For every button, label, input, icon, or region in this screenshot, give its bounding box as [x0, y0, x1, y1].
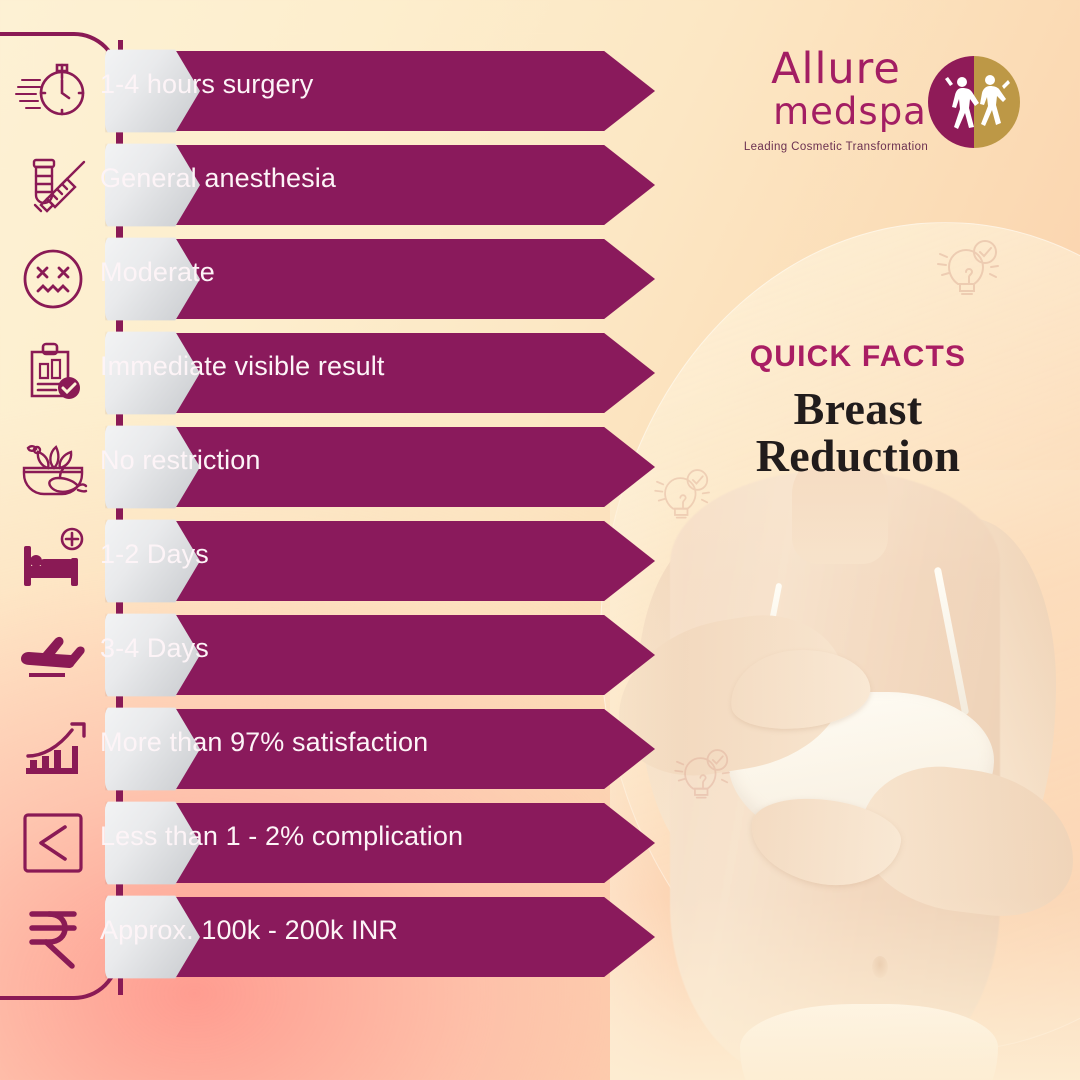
less-than-box-icon — [10, 800, 96, 886]
photo-bra-strap-right — [934, 567, 969, 716]
hospital-bed-icon — [10, 518, 96, 604]
vegetable-bowl-icon — [10, 424, 96, 510]
brand-mark-icon — [928, 56, 1020, 148]
growth-chart-icon — [10, 706, 96, 792]
quick-facts-kicker: QUICK FACTS — [658, 340, 1058, 374]
stopwatch-icon — [10, 48, 96, 134]
procedure-title-line2: Reduction — [756, 430, 961, 481]
photo-navel — [872, 956, 888, 978]
brand-name-line2: medspa — [764, 93, 936, 132]
photo-brief — [740, 1004, 998, 1080]
fact-label: More than 97% satisfaction — [100, 702, 428, 782]
list-item[interactable]: 3-4 Days — [0, 608, 700, 702]
syringe-vial-icon — [10, 142, 96, 228]
clipboard-check-icon — [10, 330, 96, 416]
photo-torso — [670, 470, 1000, 1080]
list-item[interactable]: Moderate — [0, 232, 700, 326]
photo-bra-strap-left — [752, 583, 783, 712]
list-item[interactable]: Immediate visible result — [0, 326, 700, 420]
fact-label: Approx. 100k - 200k INR — [100, 890, 398, 970]
fact-label: Moderate — [100, 232, 215, 312]
list-item[interactable]: 1-2 Days — [0, 514, 700, 608]
list-item[interactable]: General anesthesia — [0, 138, 700, 232]
list-item[interactable]: More than 97% satisfaction — [0, 702, 700, 796]
list-item[interactable]: Approx. 100k - 200k INR — [0, 890, 700, 984]
photo-neck — [792, 470, 888, 564]
photo-hand-lower — [744, 789, 905, 895]
fact-label: 1-4 hours surgery — [100, 44, 313, 124]
list-item[interactable]: No restriction — [0, 420, 700, 514]
airplane-icon — [10, 612, 96, 698]
photo-shoulder-right — [906, 518, 1056, 878]
brand-name-line1: Allure — [736, 48, 936, 91]
fact-label: 3-4 Days — [100, 608, 209, 688]
dizzy-face-icon — [10, 236, 96, 322]
lightbulb-check-icon — [930, 232, 1008, 315]
fact-label: General anesthesia — [100, 138, 336, 218]
brand-tagline: Leading Cosmetic Transformation — [736, 141, 936, 153]
photo-hand-upper — [726, 643, 873, 735]
list-item[interactable]: 1-4 hours surgery — [0, 44, 700, 138]
facts-list: 1-4 hours surgery General anesthesia — [0, 0, 700, 1080]
fact-label: 1-2 Days — [100, 514, 209, 594]
rupee-icon — [10, 894, 96, 980]
brand-wordmark: Allure medspa Leading Cosmetic Transform… — [736, 48, 936, 153]
list-item[interactable]: Less than 1 - 2% complication — [0, 796, 700, 890]
fact-label: Less than 1 - 2% complication — [100, 796, 463, 876]
fact-label: No restriction — [100, 420, 260, 500]
fact-label: Immediate visible result — [100, 326, 385, 406]
page-title: QUICK FACTS Breast Reduction — [658, 340, 1058, 480]
procedure-title-line1: Breast — [794, 383, 923, 434]
brand-logo[interactable]: Allure medspa Leading Cosmetic Transform… — [736, 48, 1026, 166]
procedure-title: Breast Reduction — [658, 386, 1058, 480]
photo-arm-right — [852, 757, 1080, 924]
photo-bra — [728, 692, 994, 842]
